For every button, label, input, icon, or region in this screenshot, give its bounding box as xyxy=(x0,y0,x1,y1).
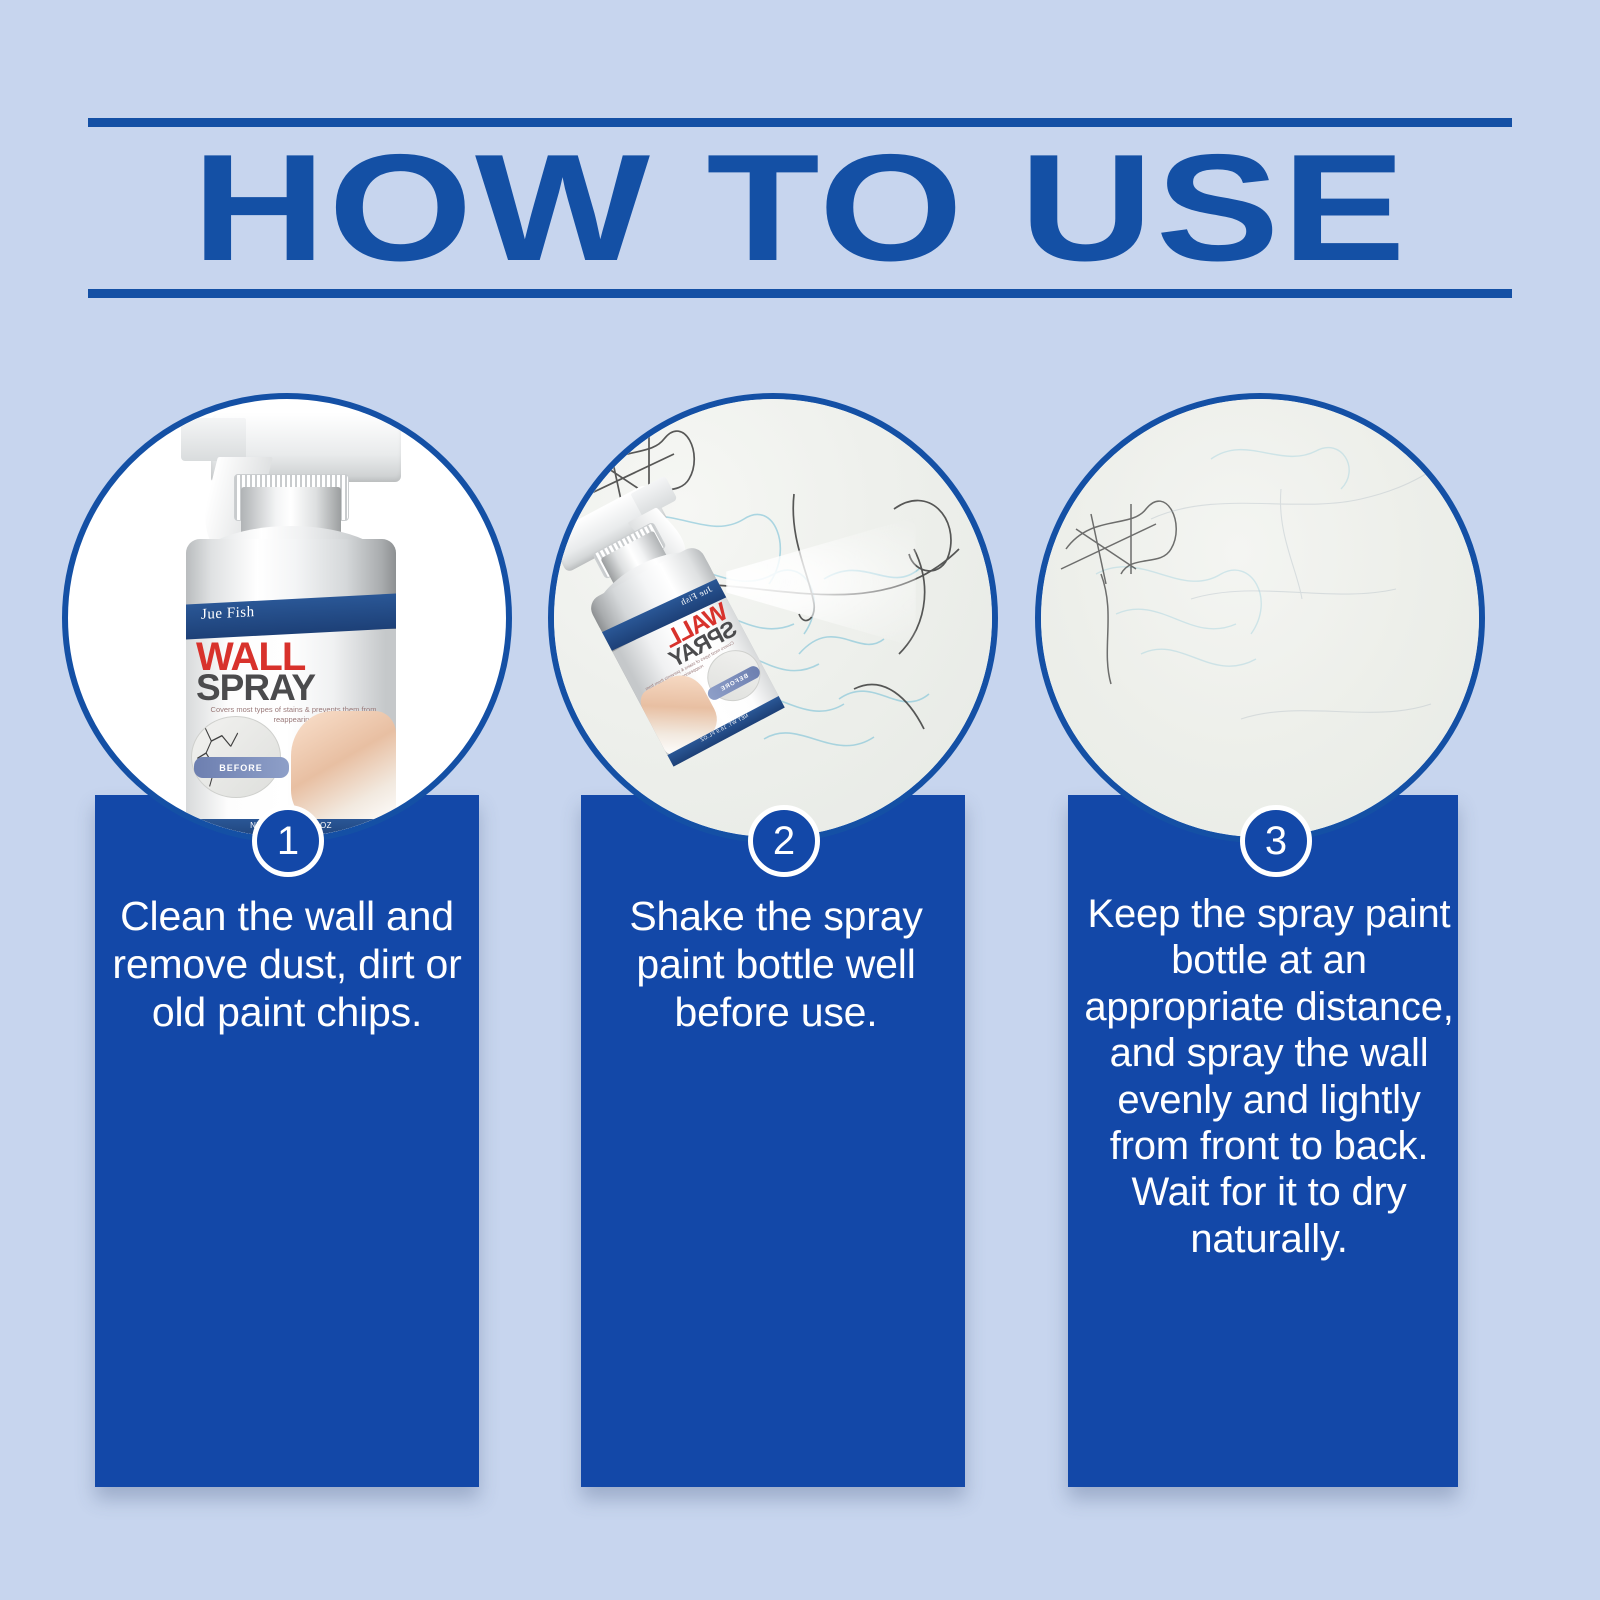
step-2-image-circle: Jue Fish WALL SPRAY Covers most types of… xyxy=(548,393,998,843)
spray-bottle-illustration: Jue Fish WALL SPRAY Covers most types of… xyxy=(166,409,416,837)
cleaned-wall-background xyxy=(1041,399,1479,837)
step-card-2: Jue Fish WALL SPRAY Covers most types of… xyxy=(548,393,1036,1487)
step-number-badge-1: 1 xyxy=(252,805,324,877)
step-3-image-circle xyxy=(1035,393,1485,843)
step-number-badge-2: 2 xyxy=(748,805,820,877)
bottle-name-line2: SPRAY xyxy=(196,670,386,705)
step-caption-3: Keep the spray paint bottle at an approp… xyxy=(1083,891,1455,1262)
step-card-3: 3 Keep the spray paint bottle at an appr… xyxy=(1035,393,1523,1487)
step-1-image-circle: Jue Fish WALL SPRAY Covers most types of… xyxy=(62,393,512,843)
before-badge: BEFORE xyxy=(194,757,289,779)
header-rule-bottom xyxy=(88,289,1512,298)
step-number-badge-3: 3 xyxy=(1240,805,1312,877)
page-header: HOW TO USE xyxy=(88,118,1512,298)
step-caption-2: Shake the spray paint bottle well before… xyxy=(596,893,956,1037)
page-title: HOW TO USE xyxy=(0,124,1600,292)
step-caption-1: Clean the wall and remove dust, dirt or … xyxy=(107,893,467,1037)
step-card-1: Jue Fish WALL SPRAY Covers most types of… xyxy=(62,393,550,1487)
